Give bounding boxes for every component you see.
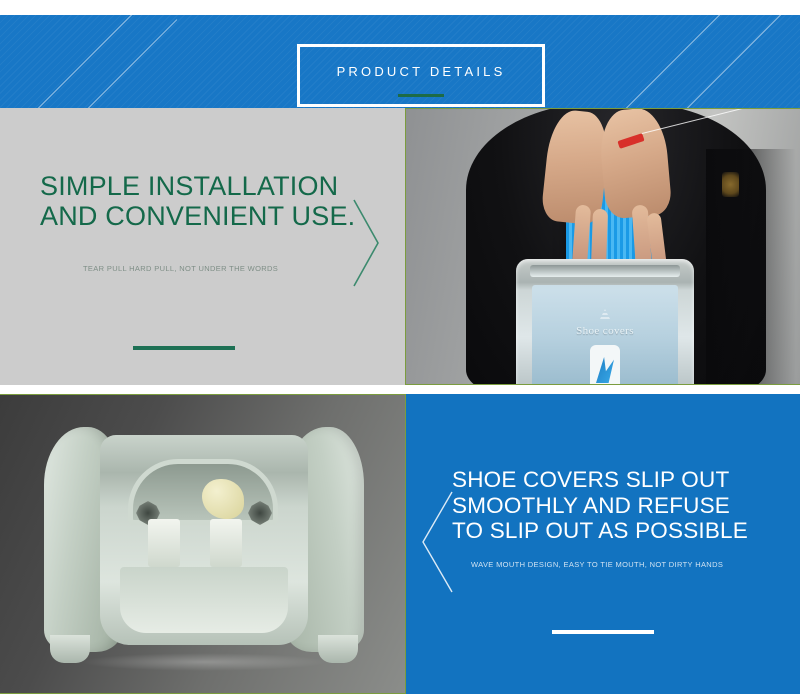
page-title-underline [398,94,444,97]
section-shoe-covers-slip-out: SHOE COVERS SLIP OUT SMOOTHLY AND REFUSE… [0,394,800,694]
photo-device-reflection [80,653,328,671]
photo-hands-pulling-shoe-covers: Shoe covers [406,108,800,385]
section-heading-line-3: TO SLIP OUT AS POSSIBLE [452,518,748,544]
text-panel-blue: SHOE COVERS SLIP OUT SMOOTHLY AND REFUSE… [406,394,800,694]
diagonal-decor-line [615,15,739,108]
photo-device-body-group [44,427,364,657]
photo-device-base-plate [120,567,288,633]
chevron-right-icon [352,198,380,288]
photo-device-inner-block [210,519,242,567]
text-panel-gray: SIMPLE INSTALLATION AND CONVENIENT USE. … [0,108,406,385]
photo-shoe-cover-dispenser-machine [0,394,406,694]
page-title-box: PRODUCT DETAILS [297,44,545,107]
photo-garment-logo [722,172,739,197]
diagonal-decor-line [85,19,178,108]
section-heading: SIMPLE INSTALLATION AND CONVENIENT USE. [40,171,355,231]
section-simple-installation: SIMPLE INSTALLATION AND CONVENIENT USE. … [0,108,800,385]
dispenser-label: Shoe covers [532,325,678,337]
section-heading-line-2: SMOOTHLY AND REFUSE [452,493,748,519]
section-heading-line-1: SIMPLE INSTALLATION [40,171,355,201]
diagonal-decor-line [35,15,142,108]
section-heading-line-1: SHOE COVERS SLIP OUT [452,467,748,493]
photo-dispenser-button-icon [596,357,614,383]
product-details-page: PRODUCT DETAILS SIMPLE INSTALLATION AND … [0,0,800,694]
photo-dispenser-slot [530,265,680,277]
section-subtitle: WAVE MOUTH DESIGN, EASY TO TIE MOUTH, NO… [471,560,723,569]
photo-shading [706,149,796,385]
section-subtitle: TEAR PULL HARD PULL, NOT UNDER THE WORDS [83,264,278,273]
section-heading-line-2: AND CONVENIENT USE. [40,201,355,231]
photo-dispenser-arrow-icon [599,309,611,321]
photo-dispenser-face: Shoe covers [532,285,678,385]
diagonal-decor-line [672,15,786,108]
photo-device-center-body [100,435,308,645]
chevron-left-icon [420,490,454,594]
header-banner: PRODUCT DETAILS [0,15,800,108]
section-underline [133,346,235,350]
section-heading: SHOE COVERS SLIP OUT SMOOTHLY AND REFUSE… [452,467,748,544]
photo-dispenser-unit: Shoe covers [516,259,694,385]
section-underline [552,630,654,634]
photo-device-inner-block [148,519,180,567]
page-title: PRODUCT DETAILS [300,64,542,79]
photo-dispenser-button [590,345,620,385]
